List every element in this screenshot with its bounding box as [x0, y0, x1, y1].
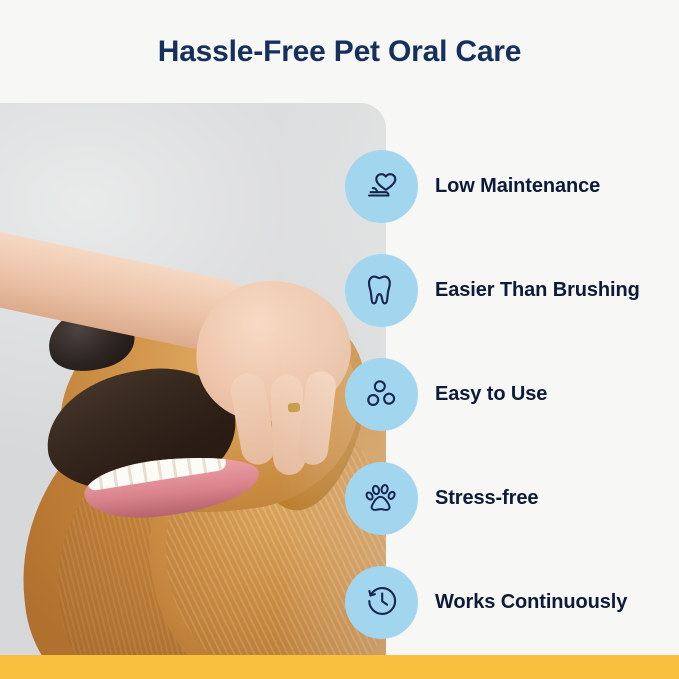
- feature-item-works-continuously: Works Continuously: [345, 550, 679, 654]
- hero-photo: [0, 103, 386, 655]
- paw-print-icon: [345, 462, 418, 535]
- feature-label: Easier Than Brushing: [435, 278, 640, 302]
- photo-edge-shading: [0, 103, 386, 655]
- feature-item-easier-than-brushing: Easier Than Brushing: [345, 238, 679, 342]
- tooth-icon: [345, 254, 418, 327]
- feature-label: Low Maintenance: [435, 174, 600, 198]
- bottom-accent-bar: [0, 655, 679, 679]
- heart-in-hand-icon: [345, 150, 418, 223]
- feature-item-easy-to-use: Easy to Use: [345, 342, 679, 446]
- page-title: Hassle-Free Pet Oral Care: [0, 0, 679, 103]
- feature-item-low-maintenance: Low Maintenance: [345, 134, 679, 238]
- feature-item-stress-free: Stress-free: [345, 446, 679, 550]
- feature-label: Works Continuously: [435, 590, 627, 614]
- feature-label: Easy to Use: [435, 382, 547, 406]
- feature-label: Stress-free: [435, 486, 538, 510]
- feature-list: Low Maintenance Easier Than Brushing Eas…: [345, 134, 679, 654]
- chews-icon: [345, 358, 418, 431]
- clock-rotate-icon: [345, 566, 418, 639]
